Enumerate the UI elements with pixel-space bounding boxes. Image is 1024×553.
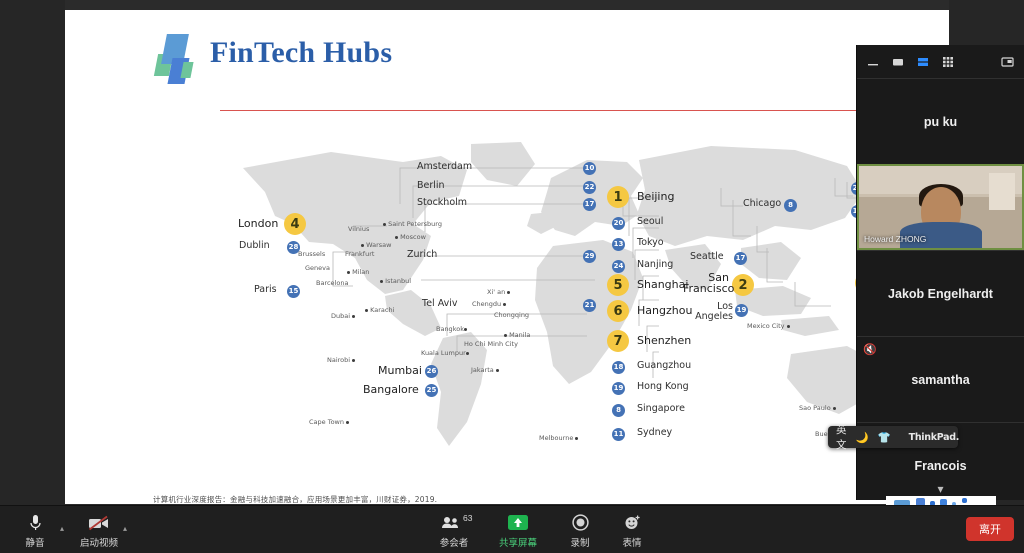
minimize-icon[interactable] [867, 56, 879, 68]
rank-badge-zurich[interactable]: 29 [583, 250, 596, 263]
map-dot-brussels: Brussels [298, 250, 325, 258]
map-dot-manila: Manila [504, 331, 530, 339]
rank-badge-tel-aviv[interactable]: 21 [583, 299, 596, 312]
city-label-dublin: Dublin [239, 240, 270, 251]
shirt-skin-icon[interactable]: 👕 [878, 431, 891, 444]
rank-badge-shenzhen[interactable]: 7 [607, 330, 629, 352]
meeting-toolbar: 静音 ▴ 启动视频 ▴ 63 参会者 共享屏幕 录制 [0, 505, 1024, 553]
filmstrip-controls [857, 45, 1024, 78]
map-dot-kuala-lumpur: Kuala Lumpur [421, 349, 469, 357]
mute-label: 静音 [25, 535, 44, 549]
participant-tile-2[interactable]: Howard ZHONG [857, 164, 1024, 250]
city-label-bangalore: Bangalore [363, 383, 419, 396]
participant-name: pu ku [924, 115, 957, 129]
ime-mode-label[interactable]: 英文 [836, 422, 847, 452]
rank-badge-seoul[interactable]: 20 [612, 217, 625, 230]
rank-badge-tokyo[interactable]: 13 [612, 238, 625, 251]
rank-badge-seattle[interactable]: 17 [734, 252, 747, 265]
map-dot-jakarta: Jakarta [471, 366, 499, 374]
city-label-nanjing: Nanjing [637, 259, 673, 270]
rank-badge-guangzhou[interactable]: 18 [612, 361, 625, 374]
start-video-label: 启动视频 [80, 535, 118, 549]
audio-options-caret[interactable]: ▴ [60, 524, 64, 533]
city-label-mumbai: Mumbai [378, 364, 422, 377]
city-label-los-angeles: Los Angeles [687, 302, 733, 321]
city-label-hong-kong: Hong Kong [637, 381, 689, 392]
share-screen-label: 共享屏幕 [499, 535, 537, 549]
reactions-label: 表情 [622, 535, 641, 549]
city-label-san-francisco: San Francisco [683, 272, 729, 294]
thinkpad-brand-label: ThinkPad. [909, 432, 959, 443]
map-dot-nairobi: Nairobi [327, 356, 355, 364]
participant-tile-4[interactable]: 🔇 samantha [857, 336, 1024, 422]
participant-name: samantha [911, 373, 969, 387]
participant-name: Jakob Engelhardt [888, 287, 993, 301]
reactions-icon [624, 514, 641, 532]
map-dot-barcelona: Barcelona [316, 279, 348, 287]
rank-badge-hong-kong[interactable]: 19 [612, 382, 625, 395]
city-label-stockholm: Stockholm [417, 197, 467, 208]
reactions-button[interactable]: 表情 [601, 511, 663, 551]
share-screen-icon [507, 514, 529, 532]
fintech-logo-icon [150, 32, 198, 84]
city-label-berlin: Berlin [417, 180, 445, 191]
map-dot-istanbul: Istanbul [380, 277, 411, 285]
map-dot-xian: Xi' an [487, 288, 510, 296]
mic-muted-icon: 🔇 [863, 343, 877, 356]
mute-button[interactable]: 静音 [4, 511, 66, 551]
map-dot-moscow: Moscow [395, 233, 426, 241]
rank-badge-hangzhou[interactable]: 6 [607, 300, 629, 322]
camera-off-icon [88, 514, 110, 532]
map-dot-vilnius: Vilnius [348, 225, 369, 233]
map-dot-sao-paulo: Sao Paulo [799, 404, 836, 412]
participant-name: Howard ZHONG [864, 234, 926, 244]
city-label-singapore: Singapore [637, 403, 685, 414]
rank-badge-shanghai[interactable]: 5 [607, 274, 629, 296]
map-dot-karachi: Karachi [365, 306, 394, 314]
city-label-beijing: Beijing [637, 190, 674, 203]
rank-badge-san-francisco[interactable]: 2 [732, 274, 754, 296]
map-dot-ho-chi-minh-city: Ho Chi Minh City [464, 340, 518, 348]
source-caption: 计算机行业深度报告：金融与科技加速融合，应用场景更加丰富，川财证券，2019. [153, 494, 437, 504]
participants-label: 参会者 [440, 535, 469, 549]
map-graphic [235, 140, 915, 460]
rank-badge-london[interactable]: 4 [284, 213, 306, 235]
rank-badge-amsterdam[interactable]: 10 [583, 162, 596, 175]
microphone-icon [29, 514, 42, 532]
rank-badge-paris[interactable]: 15 [287, 285, 300, 298]
participants-button[interactable]: 63 参会者 [423, 511, 485, 551]
map-dot-chengdu: Chengdu [472, 300, 506, 308]
city-label-tokyo: Tokyo [637, 237, 664, 248]
gallery-grid-icon[interactable] [942, 56, 954, 68]
start-video-button[interactable]: 启动视频 [68, 511, 130, 551]
title-divider [220, 110, 940, 111]
record-label: 录制 [570, 535, 589, 549]
rank-badge-mumbai[interactable]: 26 [425, 365, 438, 378]
popout-icon[interactable] [1001, 56, 1014, 68]
participant-tile-1[interactable]: pu ku [857, 78, 1024, 164]
city-label-tel-aviv: Tel Aviv [422, 298, 458, 309]
city-label-shenzhen: Shenzhen [637, 334, 691, 347]
map-dot-warsaw: Warsaw [361, 241, 391, 249]
participant-name: Francois [914, 459, 966, 473]
rank-badge-nanjing[interactable]: 24 [612, 260, 625, 273]
city-label-paris: Paris [254, 284, 277, 295]
rank-badge-los-angeles[interactable]: 19 [735, 304, 748, 317]
zoom-meeting-window: FinTech Hubs [0, 0, 1024, 553]
rank-badge-bangalore[interactable]: 25 [425, 384, 438, 397]
rank-badge-singapore[interactable]: 8 [612, 404, 625, 417]
city-label-seoul: Seoul [637, 216, 663, 227]
city-label-amsterdam: Amsterdam [417, 161, 472, 172]
city-label-seattle: Seattle [690, 251, 724, 262]
video-options-caret[interactable]: ▴ [123, 524, 127, 533]
rank-badge-chicago[interactable]: 8 [784, 199, 797, 212]
speaker-view-icon[interactable] [892, 56, 904, 68]
rank-badge-berlin[interactable]: 22 [583, 181, 596, 194]
moon-icon[interactable]: 🌙 [856, 431, 869, 444]
city-label-sydney: Sydney [637, 427, 672, 438]
world-map-figure: 1 Beijing 20 Seoul 13 Tokyo 24 Nanjing 5… [235, 140, 915, 460]
city-label-london: London [238, 217, 278, 230]
map-dot-frankfurt: Frankfurt [345, 250, 374, 258]
map-dot-mexico-city: Mexico City [747, 322, 790, 330]
page-title: FinTech Hubs [210, 36, 392, 70]
participant-tile-3[interactable]: Jakob Engelhardt [857, 250, 1024, 336]
gallery-split-icon[interactable] [917, 56, 929, 68]
map-dot-cape-town: Cape Town [309, 418, 349, 426]
map-dot-chongqing: Chongqing [494, 311, 529, 319]
presentation-slide: FinTech Hubs [65, 10, 949, 504]
participants-count: 63 [463, 513, 472, 523]
map-dot-dubai: Dubai [331, 312, 355, 320]
map-dot-geneva: Geneva [305, 264, 330, 272]
map-dot-milan: Milan [347, 268, 369, 276]
city-label-guangzhou: Guangzhou [637, 360, 691, 371]
rank-badge-beijing[interactable]: 1 [607, 186, 629, 208]
record-icon [572, 514, 589, 532]
ime-language-bar[interactable]: 英文 🌙 👕 ThinkPad. [828, 426, 958, 448]
map-dot-saint-petersburg: Saint Petersburg [383, 220, 442, 228]
city-label-shanghai: Shanghai [637, 278, 688, 291]
map-dot-bangkok: Bangkok [436, 325, 467, 333]
city-label-chicago: Chicago [743, 198, 781, 209]
city-label-hangzhou: Hangzhou [637, 304, 692, 317]
leave-meeting-button[interactable]: 离开 [966, 517, 1014, 541]
share-screen-button[interactable]: 共享屏幕 [487, 511, 549, 551]
rank-badge-stockholm[interactable]: 17 [583, 198, 596, 211]
city-label-zurich: Zurich [407, 249, 437, 260]
stage-left-margin [0, 0, 65, 505]
map-dot-melbourne: Melbourne [539, 434, 578, 442]
rank-badge-sydney[interactable]: 11 [612, 428, 625, 441]
